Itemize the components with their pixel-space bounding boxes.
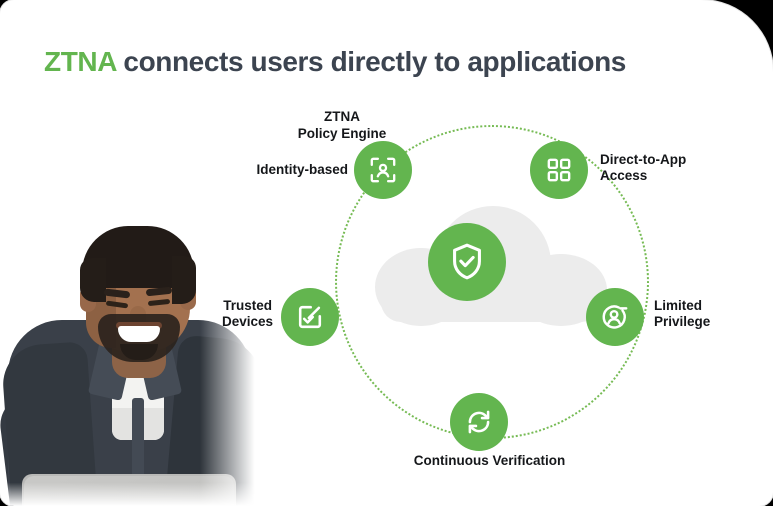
node-identity-label: Identity-based <box>228 162 348 178</box>
title-accent: ZTNA <box>44 46 116 77</box>
center-label-line1: ZTNA <box>262 108 422 125</box>
refresh-sync-icon <box>465 408 493 436</box>
node-direct-label-line1: Direct-to-App <box>600 152 750 168</box>
node-limited-label: Limited Privilege <box>654 298 773 330</box>
node-ztna-policy-engine[interactable] <box>428 223 506 301</box>
node-limited-privilege[interactable] <box>586 288 644 346</box>
node-direct-label: Direct-to-App Access <box>600 152 750 184</box>
node-direct-to-app-access[interactable] <box>530 141 588 199</box>
node-continuous-verification[interactable] <box>450 393 508 451</box>
user-restricted-icon <box>601 303 629 331</box>
node-trusted-label: Trusted Devices <box>222 298 272 330</box>
center-label-line2: Policy Engine <box>262 125 422 142</box>
node-limited-label-line2: Privilege <box>654 314 773 330</box>
infographic-card: ZTNA connects users directly to applicat… <box>0 0 773 506</box>
page-title: ZTNA connects users directly to applicat… <box>44 46 626 78</box>
title-rest: connects users directly to applications <box>116 46 626 77</box>
node-identity-based[interactable] <box>354 141 412 199</box>
node-center-label: ZTNA Policy Engine <box>262 108 422 143</box>
identity-scan-icon <box>369 156 397 184</box>
device-check-icon <box>296 303 324 331</box>
node-continuous-label: Continuous Verification <box>347 453 632 469</box>
node-trusted-label-line1: Trusted <box>222 298 272 314</box>
app-grid-icon <box>546 157 572 183</box>
node-trusted-devices[interactable] <box>281 288 339 346</box>
ztna-diagram: ZTNA Policy Engine Identity-based <box>262 108 773 506</box>
shield-check-icon <box>449 243 485 281</box>
node-limited-label-line1: Limited <box>654 298 773 314</box>
node-trusted-label-line2: Devices <box>222 314 272 330</box>
node-direct-label-line2: Access <box>600 168 750 184</box>
